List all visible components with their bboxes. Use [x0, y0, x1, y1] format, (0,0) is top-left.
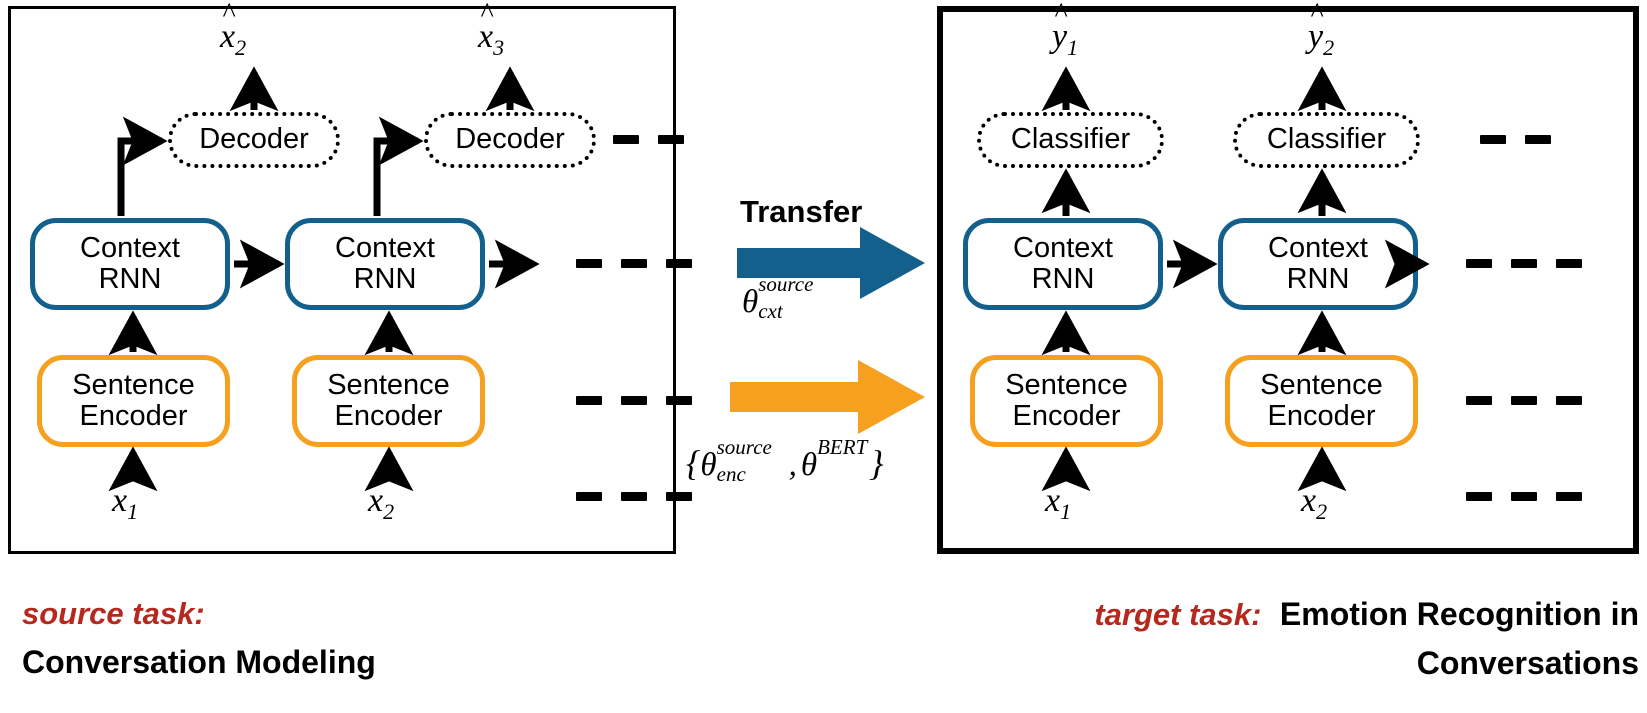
- target-caption-body-1: Emotion Recognition in: [1280, 596, 1639, 632]
- context-rnn-line1: Context: [80, 233, 180, 264]
- source-input-x2: x2: [368, 482, 394, 520]
- context-rnn-line1: Context: [1268, 233, 1368, 264]
- source-ellipsis-input-row: [576, 492, 692, 501]
- sentence-encoder-line2: Encoder: [327, 401, 450, 432]
- target-caption: target task: Emotion Recognition in Conv…: [1094, 596, 1639, 682]
- source-output-xhat-2: ^ x2: [220, 18, 246, 56]
- classifier-label-2: Classifier: [1267, 124, 1386, 155]
- target-input-x2: x2: [1301, 482, 1327, 520]
- source-output-xhat-3: ^ x3: [478, 18, 504, 56]
- context-rnn-line1: Context: [335, 233, 435, 264]
- sentence-encoder-line1: Sentence: [1260, 370, 1383, 401]
- source-sentence-encoder-2: Sentence Encoder: [292, 355, 485, 447]
- source-caption-body: Conversation Modeling: [22, 644, 376, 681]
- target-sentence-encoder-2: Sentence Encoder: [1225, 355, 1418, 447]
- comma: ,: [789, 447, 797, 483]
- target-input-x1: x1: [1045, 482, 1071, 520]
- sentence-encoder-line2: Encoder: [1260, 401, 1383, 432]
- source-caption: source task: Conversation Modeling: [22, 596, 376, 681]
- decoder-box-1: Decoder: [168, 112, 340, 168]
- decoder-label-1: Decoder: [199, 124, 309, 155]
- sentence-encoder-line1: Sentence: [72, 370, 195, 401]
- context-rnn-line2: RNN: [80, 264, 180, 295]
- close-brace: }: [869, 443, 883, 483]
- target-ellipsis-input-row: [1466, 492, 1582, 501]
- decoder-box-2: Decoder: [424, 112, 596, 168]
- target-ellipsis-context-row: [1466, 259, 1582, 268]
- classifier-label-1: Classifier: [1011, 124, 1130, 155]
- source-ellipsis-context-row: [576, 259, 692, 268]
- sentence-encoder-line2: Encoder: [1005, 401, 1128, 432]
- target-caption-body-2: Conversations: [1094, 645, 1639, 682]
- context-rnn-line2: RNN: [335, 264, 435, 295]
- target-context-rnn-1: Context RNN: [963, 218, 1163, 310]
- target-context-rnn-2: Context RNN: [1218, 218, 1418, 310]
- context-rnn-line1: Context: [1013, 233, 1113, 264]
- theta-context-label: θsourcecxt: [742, 284, 758, 321]
- source-caption-tag: source task:: [22, 596, 376, 632]
- source-ellipsis-encoder-row: [576, 396, 692, 405]
- classifier-box-2: Classifier: [1233, 112, 1420, 168]
- context-rnn-line2: RNN: [1013, 264, 1113, 295]
- source-sentence-encoder-1: Sentence Encoder: [37, 355, 230, 447]
- target-caption-tag: target task:: [1094, 597, 1261, 632]
- sentence-encoder-line2: Encoder: [72, 401, 195, 432]
- transfer-title: Transfer: [740, 194, 862, 230]
- decoder-label-2: Decoder: [455, 124, 565, 155]
- sentence-encoder-line1: Sentence: [1005, 370, 1128, 401]
- source-context-rnn-1: Context RNN: [30, 218, 230, 310]
- target-output-yhat-2: ^ y2: [1308, 18, 1334, 56]
- target-caption-line1: target task: Emotion Recognition in: [1094, 596, 1639, 633]
- context-rnn-line2: RNN: [1268, 264, 1368, 295]
- source-context-rnn-2: Context RNN: [285, 218, 485, 310]
- source-input-x1: x1: [112, 482, 138, 520]
- target-output-yhat-1: ^ y1: [1052, 18, 1078, 56]
- source-ellipsis-decoder-row: [613, 135, 684, 144]
- transfer-arrow-encoder: [730, 360, 925, 434]
- figure-canvas: Decoder Decoder Context RNN Context RNN …: [0, 0, 1647, 713]
- open-brace: {: [686, 443, 700, 483]
- theta-encoder-label: { θsourceenc , θBERT }: [686, 442, 884, 484]
- sentence-encoder-line1: Sentence: [327, 370, 450, 401]
- target-sentence-encoder-1: Sentence Encoder: [970, 355, 1163, 447]
- classifier-box-1: Classifier: [977, 112, 1164, 168]
- target-ellipsis-encoder-row: [1466, 396, 1582, 405]
- target-ellipsis-classifier-row: [1480, 135, 1551, 144]
